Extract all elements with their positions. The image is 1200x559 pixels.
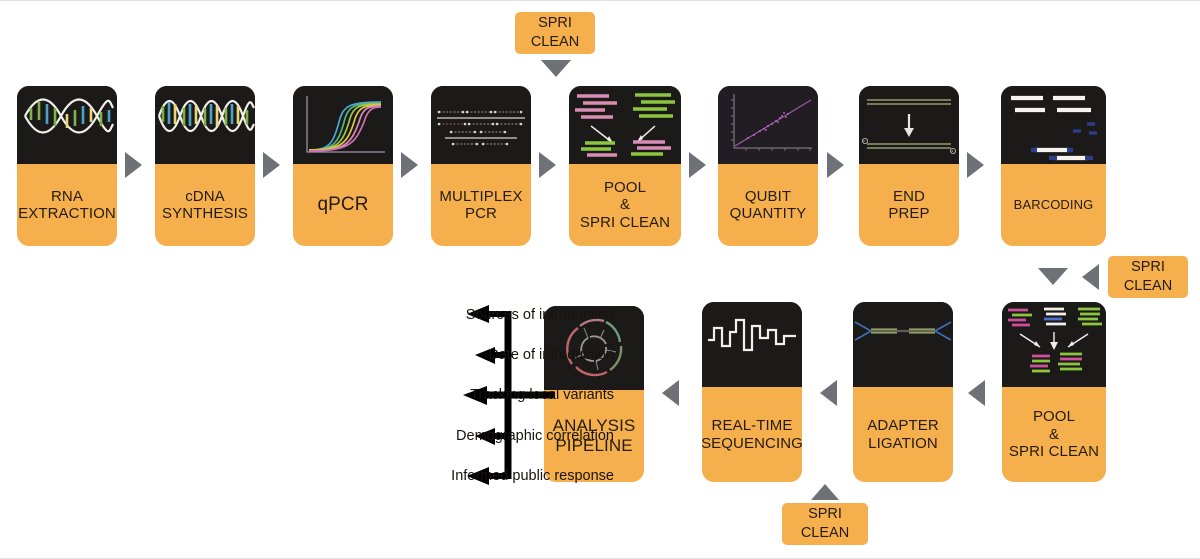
dna-double-helix-icon xyxy=(155,86,255,164)
step-card-qubit-quantity[interactable]: QUBIT QUANTITY xyxy=(718,86,818,246)
chip-line-1: SPRI xyxy=(538,14,572,33)
step-label: REAL-TIME SEQUENCING xyxy=(702,387,802,482)
tiled-amplicon-icon xyxy=(431,86,531,164)
chip-line-1: SPRI xyxy=(1131,258,1165,277)
page-top-rule xyxy=(0,0,1200,1)
step-label: MULTIPLEX PCR xyxy=(431,164,531,246)
scatter-regression-icon xyxy=(718,86,818,164)
chip-line-2: CLEAN xyxy=(1124,277,1172,296)
flow-arrow-6 xyxy=(827,152,844,178)
step-card-real-time-sequencing[interactable]: REAL-TIME SEQUENCING xyxy=(702,302,802,482)
squiggle-signal-icon xyxy=(702,302,802,387)
step-card-barcoding[interactable]: BARCODING xyxy=(1001,86,1106,246)
spri-clean-arrow-right-down xyxy=(1038,268,1068,285)
step-card-cdna-synthesis[interactable]: cDNA SYNTHESIS xyxy=(155,86,255,246)
flow-arrow-8 xyxy=(968,380,985,406)
flow-arrow-7 xyxy=(967,152,984,178)
outcome-item-4: Demographic correlation xyxy=(456,428,614,444)
step-card-rna-extraction[interactable]: RNA EXTRACTION xyxy=(17,86,117,246)
spri-clean-chip-top[interactable]: SPRI CLEAN xyxy=(515,12,595,54)
flow-arrow-4 xyxy=(539,152,556,178)
step-card-qpcr[interactable]: qPCR xyxy=(293,86,393,246)
flow-arrow-1 xyxy=(125,152,142,178)
flow-arrow-10 xyxy=(662,380,679,406)
flow-arrow-9 xyxy=(820,380,837,406)
step-label: cDNA SYNTHESIS xyxy=(155,164,255,246)
pooling-barcoded-icon xyxy=(1002,302,1106,387)
spri-clean-arrow-top xyxy=(541,60,571,77)
spri-clean-chip-bottom[interactable]: SPRI CLEAN xyxy=(782,503,868,545)
outcome-item-2: Date of introduction xyxy=(488,347,614,363)
step-label: ADAPTER LIGATION xyxy=(853,387,953,482)
step-card-multiplex-pcr[interactable]: MULTIPLEX PCR xyxy=(431,86,531,246)
step-label: BARCODING xyxy=(1001,164,1106,246)
step-card-end-prep[interactable]: PA END PREP xyxy=(859,86,959,246)
step-card-pool-spri-clean-2[interactable]: POOL & SPRI CLEAN xyxy=(1002,302,1106,482)
step-label: RNA EXTRACTION xyxy=(17,164,117,246)
flow-arrow-3 xyxy=(401,152,418,178)
chip-line-1: SPRI xyxy=(808,505,842,524)
outcome-item-1: Sources of introduction xyxy=(466,307,614,323)
spri-clean-chip-right[interactable]: SPRI CLEAN xyxy=(1108,256,1188,298)
flow-arrow-5 xyxy=(689,152,706,178)
step-label: POOL & SPRI CLEAN xyxy=(569,164,681,246)
step-label: POOL & SPRI CLEAN xyxy=(1002,387,1106,482)
outcome-item-5: Informed public response xyxy=(451,468,614,484)
spri-clean-arrow-right-in xyxy=(1082,264,1099,290)
chip-line-2: CLEAN xyxy=(531,33,579,52)
spri-clean-arrow-bottom xyxy=(811,484,839,500)
end-repair-icon: PA xyxy=(859,86,959,164)
step-label: qPCR xyxy=(293,164,393,246)
step-card-pool-spri-clean-1[interactable]: POOL & SPRI CLEAN xyxy=(569,86,681,246)
workflow-diagram: RNA EXTRACTION xyxy=(0,0,1200,559)
dna-helix-icon xyxy=(17,86,117,164)
pooling-fragments-icon xyxy=(569,86,681,164)
step-label: END PREP xyxy=(859,164,959,246)
adapter-strand-icon xyxy=(853,302,953,387)
flow-arrow-2 xyxy=(263,152,280,178)
amplification-curve-icon xyxy=(293,86,393,164)
barcode-fragments-icon xyxy=(1001,86,1106,164)
outcome-item-3: Tracking local variants xyxy=(470,387,614,403)
step-card-adapter-ligation[interactable]: ADAPTER LIGATION xyxy=(853,302,953,482)
chip-line-2: CLEAN xyxy=(801,524,849,543)
step-label: QUBIT QUANTITY xyxy=(718,164,818,246)
